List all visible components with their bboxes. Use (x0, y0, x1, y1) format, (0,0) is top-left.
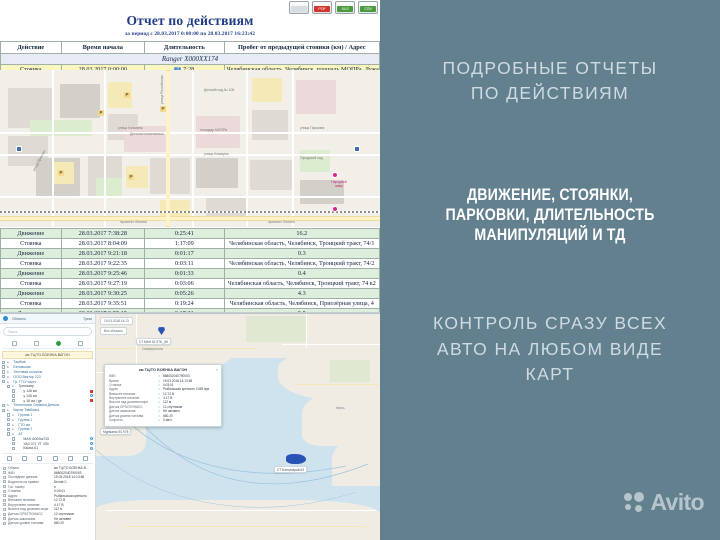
cell-detail: Челябинская область, Челябинск, Троицкий… (224, 239, 379, 249)
refresh-icon[interactable] (22, 456, 27, 461)
property-key: Датчик зажигания (8, 517, 52, 521)
tree-item-status (90, 447, 93, 450)
map-poi-label: Детская поликлиника (130, 132, 164, 136)
property-value: 12.72 В (54, 498, 65, 502)
popup-value: 0 км/ч (163, 418, 172, 422)
property-value: 0:03:01 (54, 489, 65, 493)
cell-duration: 0:03:06 (145, 279, 225, 289)
tree-checkbox[interactable] (12, 437, 15, 440)
report-table-body: Движение 28.03.2017 7:38:28 0:25:41 16.2… (0, 228, 380, 313)
promo-heading-3: КОНТРОЛЬ СРАЗУ ВСЕХ АВТО НА ЛЮБОМ ВИДЕ К… (380, 311, 720, 387)
property-value: 112 м (54, 507, 62, 511)
property-key: Адрес (8, 494, 52, 498)
tree-checkbox[interactable] (12, 399, 15, 402)
promo-line-7: АВТО НА ЛЮБОМ ВИДЕ (380, 337, 720, 362)
tree-checkbox[interactable] (2, 409, 5, 412)
tree-checkbox[interactable] (7, 385, 10, 388)
tab-objects[interactable]: Объекты (12, 317, 26, 321)
property-value: 4.17 В (54, 503, 64, 507)
property-key: Датчик уровня топлива (8, 521, 52, 525)
report-icon[interactable] (68, 456, 73, 461)
vehicle-group-row: Ranger X000XX174 (1, 54, 380, 65)
property-checkbox[interactable] (3, 522, 6, 525)
chevron-right-icon[interactable]: ▸ (12, 384, 16, 388)
promo-panel: ПОДРОБНЫЕ ОТЧЕТЫ ПО ДЕЙСТВИЯМ ДВИЖЕНИЕ, … (380, 0, 720, 540)
avito-watermark: Avito (624, 489, 704, 516)
cell-start: 28.03.2017 9:35:51 (61, 299, 144, 309)
chevron-right-icon[interactable]: ▸ (7, 365, 11, 369)
property-checkbox[interactable] (3, 503, 6, 506)
status-indicator-icon (90, 447, 93, 450)
close-icon[interactable]: × (216, 367, 218, 372)
tree-item-label: АТ (18, 432, 22, 436)
property-key: IMEI (8, 471, 52, 475)
table-row[interactable]: Стоянка 28.03.2017 9:27:19 0:03:06 Челяб… (1, 279, 380, 289)
chevron-right-icon[interactable]: ▸ (7, 360, 11, 364)
table-row[interactable]: Движение 28.03.2017 7:38:28 0:25:41 16.2 (1, 229, 380, 239)
popup-row: Скорость•0 км/ч (109, 418, 217, 422)
search-placeholder: Поиск (8, 330, 17, 334)
tree-checkbox[interactable] (2, 370, 5, 373)
popup-title: км ТЦ/ТО БОЕНКА ВАГОН (109, 368, 217, 372)
tree-item-label: Камаз 61 (23, 446, 38, 450)
report-rows: Движение 28.03.2017 7:38:28 0:25:41 16.2… (1, 229, 380, 314)
promo-line-1: ПОДРОБНЫЕ ОТЧЕТЫ (380, 56, 720, 81)
property-checkbox[interactable] (3, 490, 6, 493)
gis-filter-iconbar (3, 339, 92, 349)
column-header-action: Действие (1, 42, 62, 54)
promo-line-6: КОНТРОЛЬ СРАЗУ ВСЕХ (380, 311, 720, 336)
cell-start: 28.03.2017 9:30:25 (61, 289, 144, 299)
tree-item-label: Группа 1 (18, 413, 32, 417)
map-city-label: Симферополь (142, 347, 163, 351)
property-value: 19.03.2018 14:13:56 (54, 475, 84, 479)
property-row: Объекткм ТЦ/ТО БОЕНКА В... (0, 466, 95, 471)
tree-checkbox[interactable] (7, 413, 10, 416)
report-city-map[interactable]: улица Коммуны улица Российская площадь М… (0, 70, 380, 227)
avito-dots-icon (624, 492, 645, 513)
property-checkbox[interactable] (3, 513, 6, 516)
tree-checkbox[interactable] (12, 394, 15, 397)
cell-detail: 0.3 (224, 249, 379, 259)
cell-duration: 0:03:11 (145, 259, 225, 269)
cell-action: Стоянка (1, 239, 62, 249)
map-street-label: проспект Ленина (268, 220, 295, 224)
property-value: н (54, 485, 56, 489)
tree-checkbox[interactable] (7, 418, 10, 421)
tree-item-status (90, 390, 93, 393)
property-checkbox[interactable] (3, 499, 6, 502)
parking-icon: P (98, 110, 104, 116)
map-poi-label: Детский сад № 106 (204, 88, 234, 92)
promo-line-2: ПО ДЕЙСТВИЯМ (380, 81, 720, 106)
map-poi-label: Городской сад (300, 156, 323, 160)
property-value: км ТЦ/ТО БОЕНКА В... (54, 466, 89, 470)
cell-detail: Челябинская область, Челябинск, Троицкий… (224, 279, 379, 289)
tree-checkbox[interactable] (2, 380, 5, 383)
report-export-toolbar: PDF XLS CSV (289, 1, 378, 14)
cell-start: 28.03.2017 9:25:46 (61, 269, 144, 279)
cell-duration: 1:17:09 (145, 239, 225, 249)
property-row: АдресРыбальская крепость (0, 493, 95, 498)
export-pdf-button[interactable]: PDF (312, 1, 332, 14)
gis-overview-map[interactable]: СТ МАН 51 978 _66 Симферополь Мурманск 5… (96, 314, 380, 540)
grid-view-icon[interactable] (34, 341, 39, 346)
tree-item-status (90, 399, 93, 402)
alarm-indicator-icon (90, 390, 93, 393)
cell-action: Стоянка (1, 279, 62, 289)
map-square-marker[interactable] (16, 146, 22, 152)
tree-item-label: Тестовая колонна (13, 370, 42, 374)
property-key: Датчик GPS/ГЛОНАСС (8, 512, 52, 516)
popup-rows: IMEI•868002040790003Время•19.03.2018 14:… (109, 374, 217, 422)
property-checkbox[interactable] (3, 467, 6, 470)
print-icon (291, 6, 307, 12)
table-row[interactable]: Стоянка 28.03.2017 9:35:51 0:19:24 Челяб… (1, 299, 380, 309)
status-indicator-icon (90, 442, 93, 445)
report-period-subtitle: за период с 28.03.2017 0:00:00 по 28.03.… (0, 31, 380, 37)
tree-item-label: у 146 км (23, 394, 36, 398)
tree-checkbox[interactable] (12, 447, 15, 450)
vehicle-name: Ranger X000XX174 (1, 54, 380, 65)
map-info-popup[interactable]: × км ТЦ/ТО БОЕНКА ВАГОН IMEI•86800204079… (104, 364, 222, 427)
tree-checkbox[interactable] (7, 423, 10, 426)
tree-item-status (90, 442, 93, 445)
chevron-right-icon[interactable]: ▸ (7, 403, 11, 407)
property-key: Объект (8, 466, 52, 470)
tree-checkbox[interactable] (2, 375, 5, 378)
alarm-indicator-icon (90, 399, 93, 402)
chart-icon[interactable] (53, 456, 58, 461)
gis-tab-bar: Объекты Треки (0, 314, 95, 324)
property-key: Гос. номер (8, 485, 52, 489)
chevron-right-icon[interactable]: ▸ (7, 370, 11, 374)
column-header-start: Время начала (61, 42, 144, 54)
property-checkbox[interactable] (3, 508, 6, 511)
tree-item[interactable]: Камаз 61 (0, 446, 95, 451)
vehicle-area-blob (286, 454, 306, 464)
cell-detail: Челябинская область, Челябинск, Троицкий… (224, 259, 379, 269)
export-xls-button[interactable]: XLS (335, 1, 355, 14)
cell-detail: 4.3 (224, 289, 379, 299)
history-icon[interactable] (37, 456, 42, 461)
chevron-right-icon[interactable]: ▸ (7, 380, 11, 384)
screenshot-root: PDF XLS CSV Отчет по действиям за период… (0, 0, 720, 540)
online-filter-icon[interactable] (56, 341, 61, 346)
objects-icon (3, 316, 8, 321)
promo-heading-1: ПОДРОБНЫЕ ОТЧЕТЫ ПО ДЕЙСТВИЯМ (380, 56, 720, 107)
tree-selected-header: км ТЦ/ТО БОЕНКА ВАГОН (2, 351, 93, 359)
property-key: Внутреннее питание (8, 503, 52, 507)
property-checkbox[interactable] (3, 517, 6, 520)
tree-item-label: Тренажер (18, 384, 34, 388)
cell-detail: Челябинская область, Челябинск, Приозёрн… (224, 299, 379, 309)
chevron-right-icon[interactable]: ▸ (12, 427, 16, 431)
map-street-label: улица Пушкина (300, 126, 324, 130)
chevron-right-icon[interactable]: ▸ (12, 418, 16, 422)
tree-item-label: УАЗ 071 УТ 430 (23, 442, 48, 446)
tree-item-label: МАН А000кк720 (23, 437, 49, 441)
chevron-right-icon[interactable]: ▸ (7, 408, 11, 412)
export-csv-button[interactable]: CSV (358, 1, 378, 14)
popup-field-icon: • (157, 418, 161, 422)
cell-action: Движение (1, 229, 62, 239)
cell-duration: 0:25:41 (145, 229, 225, 239)
cell-action: Движение (1, 289, 62, 299)
cell-start: 28.03.2017 9:22:35 (61, 259, 144, 269)
map-objects-control[interactable]: Все объекты (100, 327, 127, 335)
property-key: Высота над уровнем моря (8, 507, 52, 511)
cell-duration: 0:19:24 (145, 299, 225, 309)
tree-item-label: Тамбов (13, 360, 25, 364)
property-key: Внешнее питание (8, 498, 52, 502)
parking-icon: P (128, 174, 134, 180)
map-street-label: улица Российская (160, 76, 164, 104)
cell-action: Стоянка (1, 259, 62, 269)
vehicle-marker-label[interactable]: Мурманск 51 978 (100, 428, 131, 435)
chevron-right-icon[interactable]: ▸ (12, 413, 16, 417)
map-pin-marker[interactable] (332, 172, 338, 178)
popup-key: Скорость (109, 418, 155, 422)
property-checkbox[interactable] (3, 485, 6, 488)
tree-item-label: ООО Вектор 223 (13, 375, 40, 379)
table-header-row: Действие Время начала Длительность Пробе… (1, 42, 380, 54)
cell-detail: 16.2 (224, 229, 379, 239)
promo-line-8: КАРТ (380, 362, 720, 387)
tree-checkbox[interactable] (7, 432, 10, 435)
cell-action: Движение (1, 249, 62, 259)
property-value: Не активен (54, 517, 71, 521)
cell-start: 28.03.2017 9:21:18 (61, 249, 144, 259)
tree-item-status (90, 437, 93, 440)
promo-heading-2: ДВИЖЕНИЕ, СТОЯНКИ, ПАРКОВКИ, ДЛИТЕЛЬНОСТ… (380, 185, 720, 245)
table-row[interactable]: Движение 28.03.2017 9:21:18 0:01:17 0.3 (1, 249, 380, 259)
search-input[interactable]: Поиск (3, 327, 92, 336)
gis-action-toolbar (2, 453, 93, 464)
tree-item-label: Группа 2 (18, 418, 32, 422)
property-row: Датчик уровня топлива660.20 (0, 521, 95, 526)
print-button[interactable] (289, 1, 309, 14)
gis-screenshot: Объекты Треки Поиск км ТЦ/ТО БОЕНКА ВАГО… (0, 313, 380, 540)
table-row[interactable]: Движение 28.03.2017 9:25:46 0:01:33 0.4 (1, 269, 380, 279)
cell-action: Движение (1, 269, 62, 279)
map-street-label: проспект Ленина (120, 220, 147, 224)
more-icon[interactable] (83, 456, 88, 461)
map-square-marker[interactable] (354, 146, 360, 152)
tree-checkbox[interactable] (7, 428, 10, 431)
property-row: IMEI868002040790003 (0, 470, 95, 475)
promo-line-5: МАНИПУЛЯЦИЙ И ТД (404, 225, 696, 245)
property-value: 12 спутников (54, 512, 74, 516)
cell-duration: 0:01:17 (145, 249, 225, 259)
csv-icon: CSV (360, 6, 376, 12)
cell-duration: 0:01:33 (145, 269, 225, 279)
property-row: Последние данные19.03.2018 14:13:56 (0, 475, 95, 480)
table-row[interactable]: Стоянка 28.03.2017 8:04:09 1:17:09 Челяб… (1, 239, 380, 249)
property-value: 660.20 (54, 521, 64, 525)
property-value: 868002040790003 (54, 471, 82, 475)
tree-item-label: Гр. ГТО/ часть (13, 380, 36, 384)
map-pin-label: Народныйсквер (322, 180, 356, 188)
tree-item-label: Киров Тамбовск (13, 408, 39, 412)
chevron-right-icon[interactable]: ▸ (12, 432, 16, 436)
xls-icon: XLS (337, 6, 353, 12)
cell-start: 28.03.2017 8:04:09 (61, 239, 144, 249)
tree-item-label: ГТО км (18, 423, 30, 427)
tree-item-label: у 18 км / дв (23, 399, 41, 403)
map-pin-marker[interactable] (332, 206, 338, 212)
tree-item-label: Технология Сервиса Дельта (13, 403, 59, 407)
map-street-label: улица Коммуны (118, 126, 143, 130)
report-screenshot: PDF XLS CSV Отчет по действиям за период… (0, 0, 380, 313)
status-indicator-icon (90, 437, 93, 440)
column-header-duration: Длительность (145, 42, 225, 54)
property-value: Рыбальская крепость (54, 494, 87, 498)
list-view-icon[interactable] (12, 341, 17, 346)
property-checkbox[interactable] (3, 494, 6, 497)
tab-tracks[interactable]: Треки (83, 317, 92, 321)
gis-object-tree: ▸Тамбов▸Беловская▸Тестовая колонна▸ООО В… (0, 360, 95, 451)
settings-icon[interactable] (78, 341, 83, 346)
parking-icon: P (160, 106, 166, 112)
map-datetime-control[interactable]: 19.03.2018 14:13 (100, 317, 133, 325)
tree-checkbox[interactable] (12, 389, 15, 392)
cell-action: Стоянка (1, 299, 62, 309)
tree-item-label: у 146 км (23, 389, 36, 393)
parking-icon: P (58, 170, 64, 176)
tree-checkbox[interactable] (2, 404, 5, 407)
pdf-icon: PDF (314, 6, 330, 12)
table-row[interactable]: Стоянка 28.03.2017 9:22:35 0:03:11 Челяб… (1, 259, 380, 269)
property-checkbox[interactable] (3, 471, 6, 474)
map-street-label: площадь МОПРа (200, 128, 227, 132)
promo-line-3: ДВИЖЕНИЕ, СТОЯНКИ, (404, 185, 696, 205)
avito-label: Avito (650, 489, 704, 516)
property-checkbox[interactable] (3, 476, 6, 479)
property-value: Белов С. (54, 480, 68, 484)
gis-sidebar: Объекты Треки Поиск км ТЦ/ТО БОЕНКА ВАГО… (0, 314, 96, 540)
property-checkbox[interactable] (3, 480, 6, 483)
chevron-right-icon[interactable]: ▸ (12, 423, 16, 427)
cell-start: 28.03.2017 9:27:19 (61, 279, 144, 289)
tree-item-status (90, 394, 93, 397)
gis-properties-panel: Объекткм ТЦ/ТО БОЕНКА В...IMEI8680020407… (0, 466, 95, 526)
cell-detail: 0.4 (224, 269, 379, 279)
vehicle-marker-label[interactable]: СТ МАН 51 978 _66 (136, 338, 171, 345)
property-key: Водитель на правах (8, 480, 52, 484)
column-header-detail: Пробег от предыдущей стоянки (км) / Адре… (224, 42, 379, 54)
parking-icon: P (124, 92, 130, 98)
tree-item-label: Беловская (13, 365, 30, 369)
map-street-label: улица Коммуны (204, 152, 229, 156)
tree-checkbox[interactable] (2, 361, 5, 364)
tree-item-label: Группа 3 (18, 427, 32, 431)
cell-duration: 0:05:26 (145, 289, 225, 299)
chevron-right-icon[interactable]: ▸ (7, 375, 11, 379)
promo-line-4: ПАРКОВКИ, ДЛИТЕЛЬНОСТЬ (404, 205, 696, 225)
map-city-label: Керчь (336, 406, 345, 410)
tree-checkbox[interactable] (12, 442, 15, 445)
property-key: Последние данные (8, 475, 52, 479)
vehicle-marker-label[interactable]: СТ Бахчисарай 63 (274, 466, 307, 473)
status-indicator-icon (90, 394, 93, 397)
table-row[interactable]: Движение 28.03.2017 9:30:25 0:05:26 4.3 (1, 289, 380, 299)
edit-icon[interactable] (7, 456, 12, 461)
cell-start: 28.03.2017 7:38:28 (61, 229, 144, 239)
property-key: Стоянка (8, 489, 52, 493)
tree-checkbox[interactable] (2, 365, 5, 368)
